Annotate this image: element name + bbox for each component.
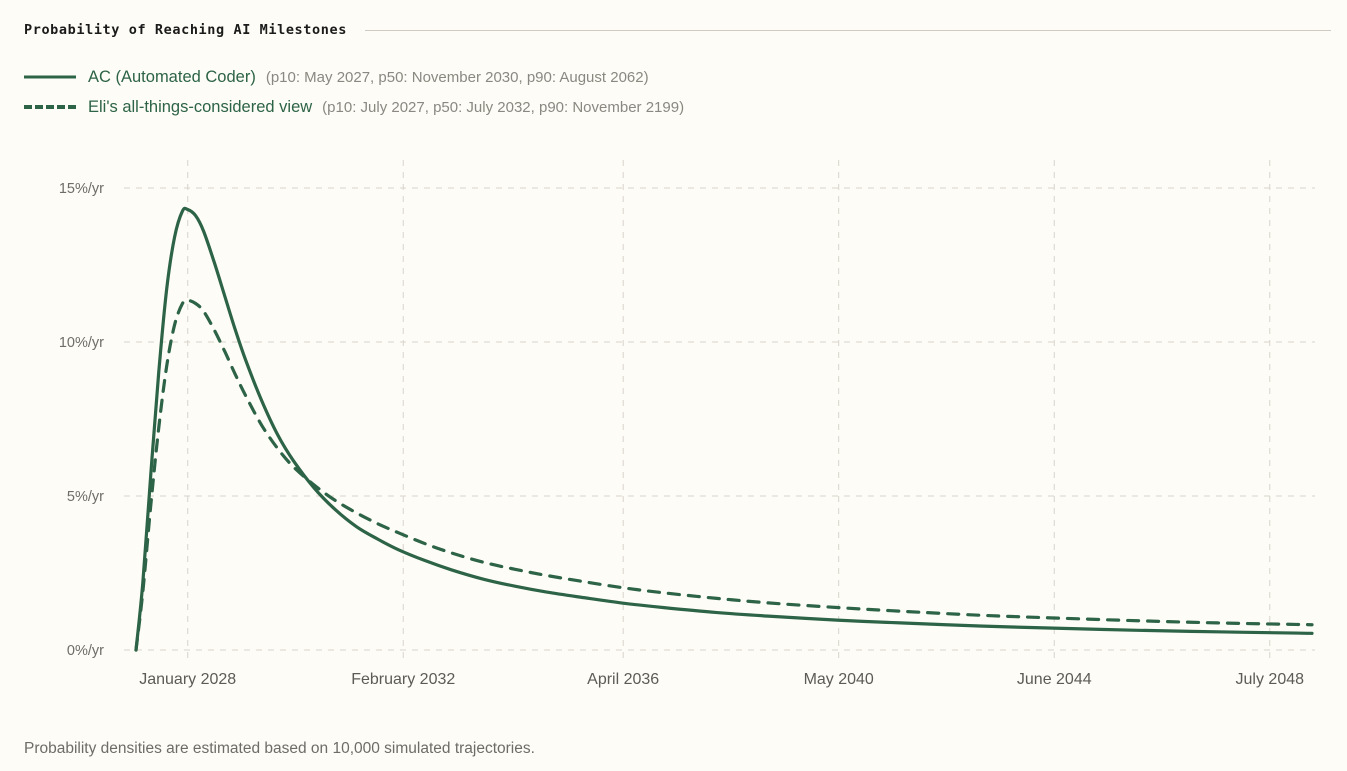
x-tick-label: May 2040 — [804, 671, 874, 688]
chart-header: Probability of Reaching AI Milestones — [24, 20, 1331, 40]
x-tick-label: January 2028 — [139, 671, 236, 688]
legend-label-ac: AC (Automated Coder) — [88, 68, 256, 87]
y-tick-label: 0%/yr — [67, 643, 104, 659]
series-lines — [136, 208, 1312, 650]
y-tick-label: 5%/yr — [67, 489, 104, 505]
x-axis-tick-labels: January 2028February 2032April 2036May 2… — [139, 671, 1304, 688]
x-tick-label: April 2036 — [587, 671, 659, 688]
chart-footnote: Probability densities are estimated base… — [24, 740, 535, 758]
legend-detail-eli: (p10: July 2027, p50: July 2032, p90: No… — [322, 99, 684, 116]
grid-vertical — [188, 160, 1270, 660]
y-tick-label: 15%/yr — [59, 181, 104, 197]
legend-line-solid-icon — [24, 70, 76, 84]
x-tick-label: June 2044 — [1017, 671, 1092, 688]
legend-label-eli: Eli's all-things-considered view — [88, 98, 312, 117]
legend-line-dashed-icon — [24, 100, 76, 114]
page-title: Probability of Reaching AI Milestones — [24, 22, 347, 38]
chart-legend: AC (Automated Coder) (p10: May 2027, p50… — [24, 62, 684, 122]
grid-horizontal — [124, 188, 1315, 650]
x-tick-label: February 2032 — [351, 671, 455, 688]
legend-detail-ac: (p10: May 2027, p50: November 2030, p90:… — [266, 69, 649, 86]
series-line — [136, 300, 1312, 650]
legend-item-eli[interactable]: Eli's all-things-considered view (p10: J… — [24, 92, 684, 122]
y-tick-label: 10%/yr — [59, 335, 104, 351]
title-divider — [365, 30, 1331, 31]
series-line — [136, 208, 1312, 650]
legend-item-ac[interactable]: AC (Automated Coder) (p10: May 2027, p50… — [24, 62, 684, 92]
y-axis-tick-labels: 0%/yr5%/yr10%/yr15%/yr — [59, 181, 104, 659]
x-tick-label: July 2048 — [1236, 671, 1305, 688]
